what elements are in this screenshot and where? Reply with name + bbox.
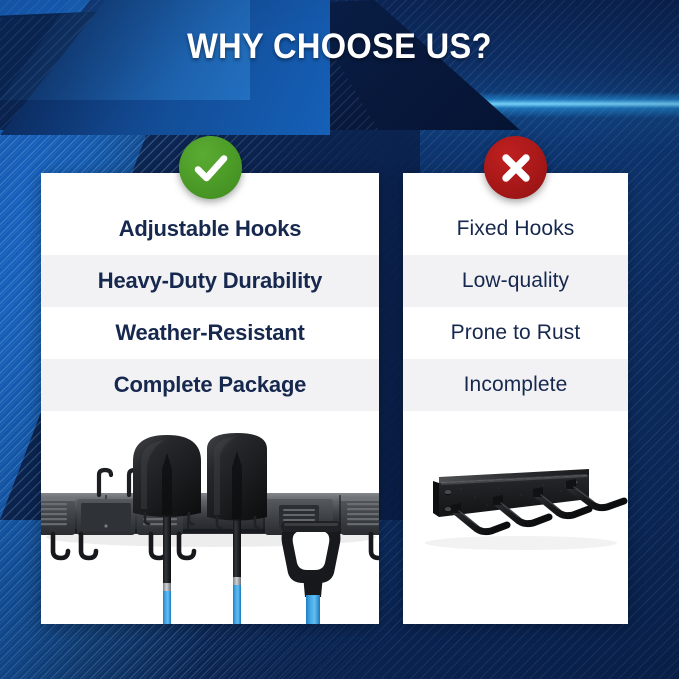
list-item: Fixed Hooks <box>403 203 628 255</box>
fixed-hook-bar-illustration <box>403 425 628 624</box>
close-icon <box>499 151 533 185</box>
spring-clamp-holder <box>341 497 379 535</box>
pros-row-label-1: Heavy-Duty Durability <box>98 268 322 294</box>
page-title: WHY CHOOSE US? <box>24 27 655 67</box>
spring-clamp-holder <box>41 497 75 535</box>
d-handle-tool <box>281 521 341 624</box>
list-item: Incomplete <box>403 359 628 411</box>
tool-rail-illustration <box>41 425 379 624</box>
list-item: Prone to Rust <box>403 307 628 359</box>
cons-card: Fixed Hooks Low-quality Prone to Rust In… <box>403 173 628 624</box>
cons-row-label-3: Incomplete <box>464 373 568 397</box>
cons-feature-list: Fixed Hooks Low-quality Prone to Rust In… <box>403 173 628 411</box>
cons-row-label-2: Prone to Rust <box>451 321 581 345</box>
pros-row-label-0: Adjustable Hooks <box>119 216 302 242</box>
cons-row-label-1: Low-quality <box>462 269 569 293</box>
pros-card: Adjustable Hooks Heavy-Duty Durability W… <box>41 173 379 624</box>
tool-rail-with-shovels-image <box>41 425 379 624</box>
spring-clamp-holder <box>77 499 135 535</box>
pros-row-label-3: Complete Package <box>114 372 306 398</box>
check-circle-icon <box>179 136 242 199</box>
cons-row-label-0: Fixed Hooks <box>457 217 575 241</box>
check-icon <box>193 150 229 186</box>
cross-circle-icon <box>484 136 547 199</box>
list-item: Complete Package <box>41 359 379 411</box>
infographic-canvas: WHY CHOOSE US? Adjustable Hooks Heavy-Du… <box>0 0 679 679</box>
pros-row-label-2: Weather-Resistant <box>115 320 304 346</box>
fixed-hook-bar-image <box>403 425 628 624</box>
list-item: Adjustable Hooks <box>41 203 379 255</box>
list-item: Heavy-Duty Durability <box>41 255 379 307</box>
list-item: Low-quality <box>403 255 628 307</box>
list-item: Weather-Resistant <box>41 307 379 359</box>
pros-feature-list: Adjustable Hooks Heavy-Duty Durability W… <box>41 173 379 411</box>
